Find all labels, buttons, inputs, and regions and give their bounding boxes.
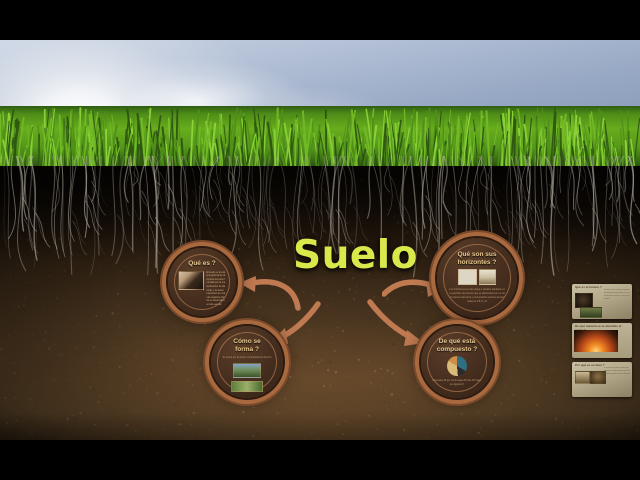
node-que-es-text: El suelo es la capa superficial de la co… [206,271,225,307]
node-horizontes-text: Los horizontes son las capas o estratos … [449,288,505,303]
node-como-se-forma-body-2 [222,381,272,392]
letterbox-bottom [0,440,640,480]
node-que-es-content: Qué es ? El suelo es la capa superficial… [174,254,230,310]
node-que-es[interactable]: Qué es ? El suelo es la capa superficial… [168,248,236,316]
soil-composition-pie-chart[interactable] [447,356,467,376]
node-compuesto-body [432,356,482,376]
node-compuesto-text: Minerales 45 por ciento agua 25 aire 25 … [432,379,481,387]
humus-close-up-photo [580,307,602,318]
node-horizontes-body [448,269,505,285]
node-como-se-forma-title: Cómo se forma ? [217,338,277,353]
node-compuesto-content: De qué está compuesto ? Minerales 45 por… [427,332,487,392]
soil-sample-icon [575,371,590,384]
node-como-se-forma[interactable]: Cómo se forma ? Se forma por la accion c… [211,326,283,398]
node-compuesto-title: De qué está compuesto ? [427,338,487,353]
thumbnail-humus-title: Qué es el humus ? [575,286,602,290]
node-horizontes[interactable]: Qué son sus horizontes ? Los horizontes … [437,238,517,318]
thumbnail-humus-text: El humus es la materia organica descompu… [604,289,630,301]
node-horizontes-title: Qué son sus horizontes ? [443,251,511,266]
node-como-se-forma-text: Se forma por la accion combinada del cli… [222,356,271,360]
slide-thumbnail-fire[interactable]: De qué manera se ve afectado el suelo ? [572,323,632,358]
soil-formation-photo[interactable] [233,363,261,378]
node-horizontes-content: Qué son sus horizontes ? Los horizontes … [443,244,511,312]
slide-thumbnail-rail: Qué es el humus ? El humus es la materia… [572,284,636,397]
prezi-graph: Suelo Qué es ? El suelo es la capa super… [0,0,640,400]
node-que-es-body: El suelo es la capa superficial de la co… [178,271,225,307]
slide-thumbnail-porque[interactable]: Por qué es un bien ? El suelo es un bien… [572,362,632,397]
presentation-canvas: Suelo Qué es ? El suelo es la capa super… [0,0,640,480]
letterbox-top [0,0,640,40]
page-title: Suelo [293,233,418,278]
node-como-se-forma-content: Cómo se forma ? Se forma por la accion c… [217,332,277,392]
node-que-es-title: Qué es ? [182,260,223,267]
soil-profile-diagram[interactable] [458,269,477,285]
soil-in-hands-photo[interactable] [178,271,204,290]
slide-thumbnail-humus[interactable]: Qué es el humus ? El humus es la materia… [572,284,632,319]
node-compuesto[interactable]: De qué está compuesto ? Minerales 45 por… [421,326,493,398]
humus-dark-soil-photo [575,293,593,308]
thumbnail-porque-text: El suelo es un bien comun que debemos cu… [604,367,630,379]
landscape-strip-photo[interactable] [231,381,263,392]
wildfire-photo [574,330,618,352]
thumbnail-porque-title: Por qué es un bien ? [575,364,605,368]
arrow-to-compuesto[interactable] [366,296,434,348]
soil-horizon-photo[interactable] [479,269,496,285]
node-como-se-forma-body [222,363,272,378]
